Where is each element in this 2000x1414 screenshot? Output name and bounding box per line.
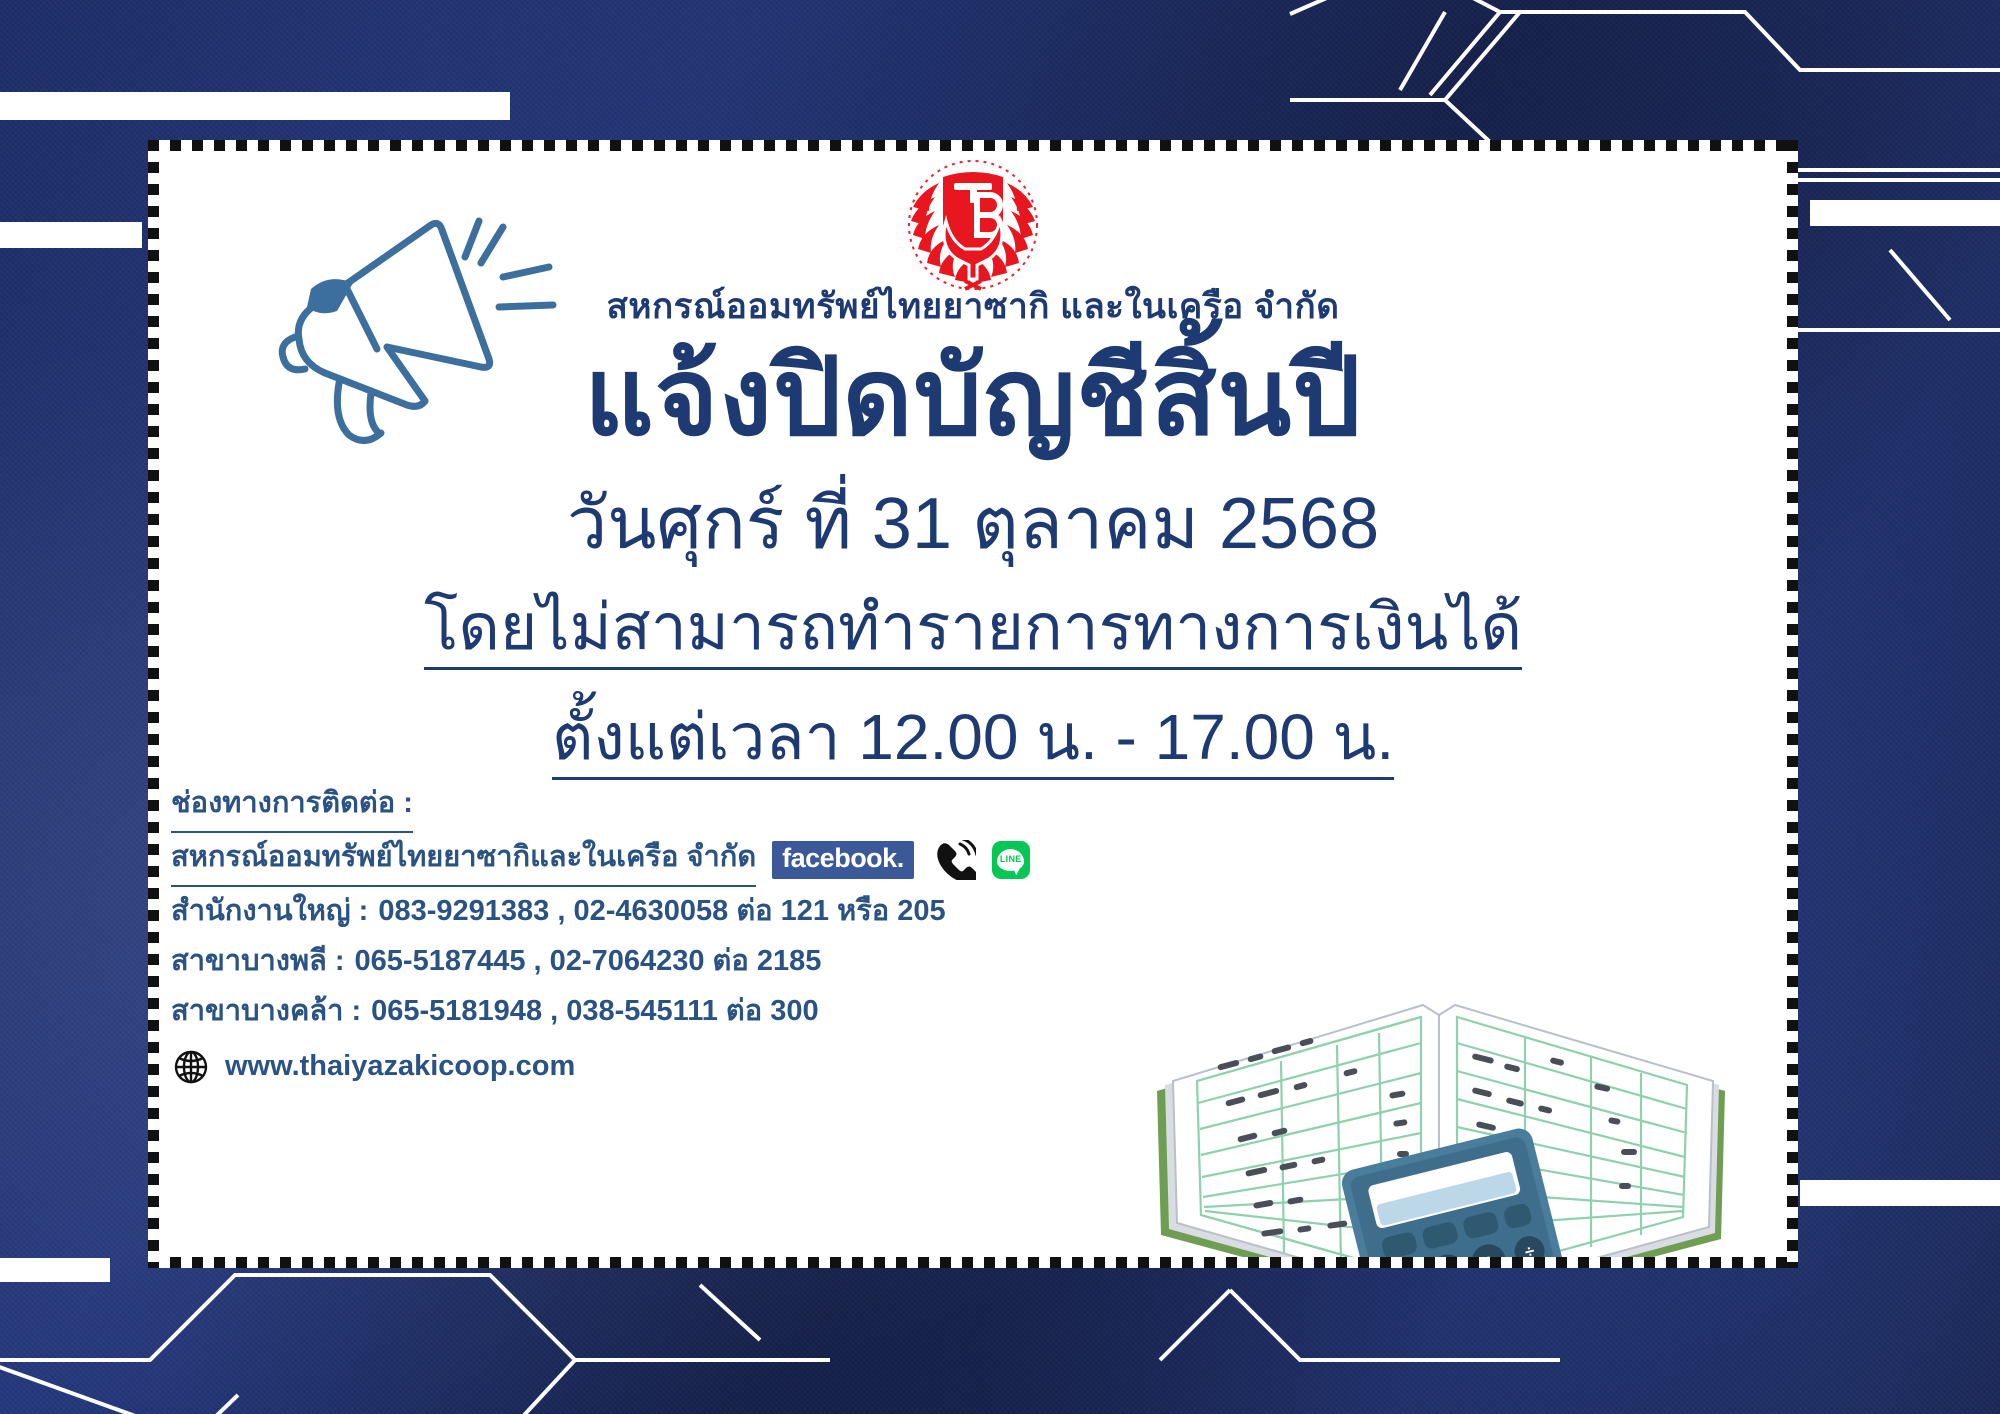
bank-passbook-illustration: 789÷ 456× 123− 0.=+ — [1121, 905, 1787, 1257]
contact-heading: ช่องทางการติดต่อ : — [171, 779, 413, 833]
card-border-right — [1787, 140, 1798, 1268]
date-line: วันศุกร์ ที่ 31 ตุลาคม 2568 — [159, 481, 1787, 567]
contact-row-bangkhla: สาขาบางคล้า : 065-5181948 , 038-545111 ต… — [171, 987, 1030, 1037]
facebook-icon[interactable]: facebook. — [772, 841, 914, 879]
statement-2-text: ตั้งแต่เวลา 12.00 น. - 17.00 น. — [552, 701, 1394, 780]
decor-white-bar-lower-left — [0, 1258, 110, 1282]
statement-time-range: ตั้งแต่เวลา 12.00 น. - 17.00 น. — [159, 699, 1787, 776]
organization-subtitle: สหกรณ์ออมทรัพย์ไทยยาซากิ และในเครือ จำกั… — [159, 279, 1787, 334]
decor-white-bar-lower-right — [1800, 1180, 2000, 1206]
decor-white-bar-right — [1810, 200, 2000, 226]
poster-root: สหกรณ์ออมทรัพย์ไทยยาซากิ และในเครือ จำกั… — [0, 0, 2000, 1414]
contact-value-bangkhla: 065-5181948 , 038-545111 ต่อ 300 — [371, 987, 818, 1037]
contact-label-bangkhla: สาขาบางคล้า : — [171, 987, 361, 1037]
cooperative-logo — [878, 159, 1068, 291]
website-row[interactable]: www.thaiyazakicoop.com — [171, 1042, 1030, 1092]
contact-row-headoffice: สำนักงานใหญ่ : 083-9291383 , 02-4630058 … — [171, 887, 1030, 937]
announcement-card: สหกรณ์ออมทรัพย์ไทยยาซากิ และในเครือ จำกั… — [148, 140, 1798, 1268]
statement-no-transactions: โดยไม่สามารถทำรายการทางการเงินได้ — [159, 589, 1787, 666]
contact-value-headoffice: 083-9291383 , 02-4630058 ต่อ 121 หรือ 20… — [378, 887, 945, 937]
website-url[interactable]: www.thaiyazakicoop.com — [225, 1042, 575, 1092]
statement-1-text: โดยไม่สามารถทำรายการทางการเงินได้ — [424, 591, 1522, 670]
contact-org-row: สหกรณ์ออมทรัพย์ไทยยาซากิและในเครือ จำกัด… — [171, 833, 1030, 887]
contact-label-bangphli: สาขาบางพลี : — [171, 937, 345, 987]
card-border-left — [148, 140, 159, 1268]
card-border-top — [148, 140, 1798, 151]
page-title: แจ้งปิดบัญชีสิ้นปี — [159, 333, 1787, 460]
decor-white-bar-mid — [0, 222, 142, 248]
decor-white-bar-top — [0, 92, 510, 120]
contact-org-name: สหกรณ์ออมทรัพย์ไทยยาซากิและในเครือ จำกัด — [171, 833, 756, 887]
contact-row-bangphli: สาขาบางพลี : 065-5187445 , 02-7064230 ต่… — [171, 937, 1030, 987]
contact-block: ช่องทางการติดต่อ : สหกรณ์ออมทรัพย์ไทยยาซ… — [171, 779, 1030, 1092]
card-border-bottom — [148, 1257, 1798, 1268]
line-label: LINE — [1000, 852, 1022, 867]
contact-heading-row: ช่องทางการติดต่อ : — [171, 779, 1030, 833]
contact-value-bangphli: 065-5187445 , 02-7064230 ต่อ 2185 — [355, 937, 822, 987]
phone-ringing-icon — [932, 840, 976, 880]
line-icon[interactable]: LINE — [992, 841, 1030, 879]
globe-icon — [171, 1047, 211, 1087]
contact-label-headoffice: สำนักงานใหญ่ : — [171, 887, 368, 937]
